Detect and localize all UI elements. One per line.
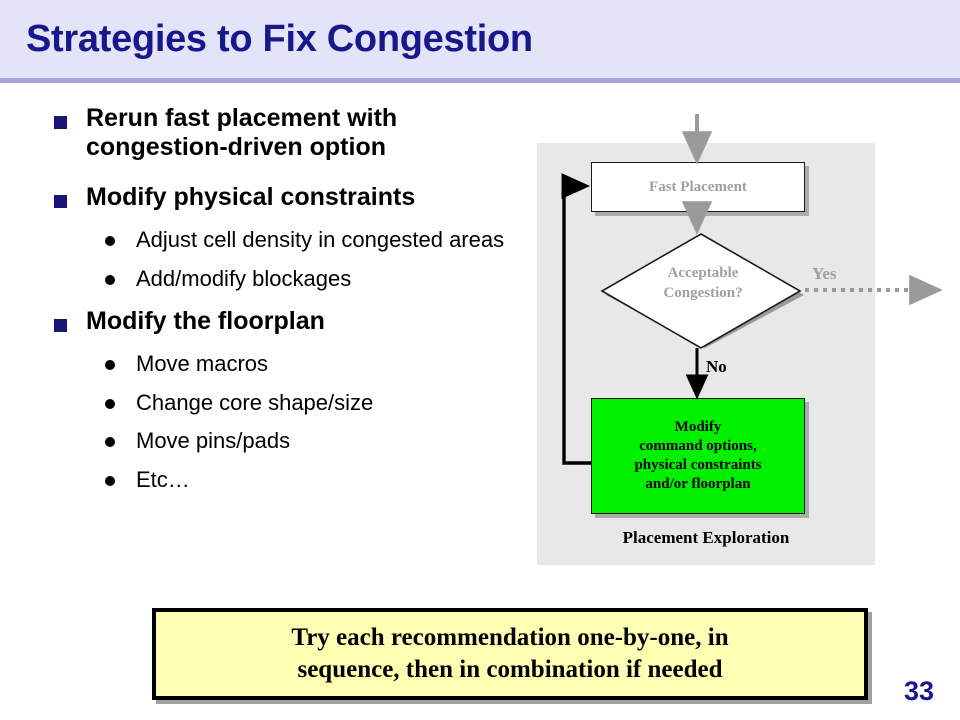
square-bullet-icon (54, 116, 67, 129)
panel-caption: Placement Exploration (537, 528, 875, 548)
list-item: Change core shape/size (44, 390, 524, 416)
dot-bullet-icon (105, 275, 115, 285)
spacer (44, 338, 524, 351)
bullet-text: Move pins/pads (136, 428, 290, 453)
title-divider (0, 78, 960, 83)
list-item: Move pins/pads (44, 428, 524, 454)
list-item: Move macros (44, 351, 524, 377)
flowchart-action-modify: Modify command options, physical constra… (591, 398, 805, 514)
list-item: Modify the floorplan (44, 307, 524, 336)
flowchart-decision-acceptable-congestion: Acceptable Congestion? (600, 232, 806, 350)
callout-box: Try each recommendation one-by-one, in s… (152, 608, 868, 700)
list-item: Adjust cell density in congested areas (44, 227, 524, 253)
list-item: Modify physical constraints (44, 183, 524, 212)
list-item: Add/modify blockages (44, 266, 524, 292)
spacer (44, 291, 524, 307)
callout-text: Try each recommendation one-by-one, in s… (291, 622, 728, 686)
bullet-text: Etc… (136, 467, 190, 492)
bullet-text: Modify physical constraints (86, 183, 415, 211)
list-item: Rerun fast placement with congestion-dri… (44, 104, 524, 162)
action-label: Modify command options, physical constra… (634, 418, 761, 495)
bullet-text: Adjust cell density in congested areas (136, 227, 504, 252)
flowchart-process-fast-placement: Fast Placement (591, 162, 805, 212)
dot-bullet-icon (105, 437, 115, 447)
dot-bullet-icon (105, 399, 115, 409)
bullet-text: Modify the floorplan (86, 307, 325, 335)
square-bullet-icon (54, 195, 67, 208)
spacer (44, 253, 524, 266)
spacer (44, 214, 524, 227)
bullet-text: Rerun fast placement with congestion-dri… (86, 104, 397, 161)
dot-bullet-icon (105, 360, 115, 370)
edge-label-yes: Yes (812, 264, 837, 284)
spacer (44, 377, 524, 390)
bullet-text: Move macros (136, 351, 268, 376)
spacer (44, 415, 524, 428)
decision-diamond-shape (600, 232, 806, 350)
page-number: 33 (904, 676, 934, 707)
bullet-text: Add/modify blockages (136, 266, 351, 291)
bullet-text: Change core shape/size (136, 390, 373, 415)
spacer (44, 164, 524, 183)
placement-exploration-panel: Fast Placement Acceptable Congestion? Mo… (537, 143, 875, 565)
bullet-list: Rerun fast placement with congestion-dri… (44, 104, 524, 492)
edge-label-no: No (706, 357, 727, 377)
square-bullet-icon (54, 319, 67, 332)
list-item: Etc… (44, 467, 524, 493)
dot-bullet-icon (105, 476, 115, 486)
dot-bullet-icon (105, 236, 115, 246)
process-label: Fast Placement (649, 179, 747, 196)
page-title: Strategies to Fix Congestion (26, 18, 533, 61)
spacer (44, 454, 524, 467)
